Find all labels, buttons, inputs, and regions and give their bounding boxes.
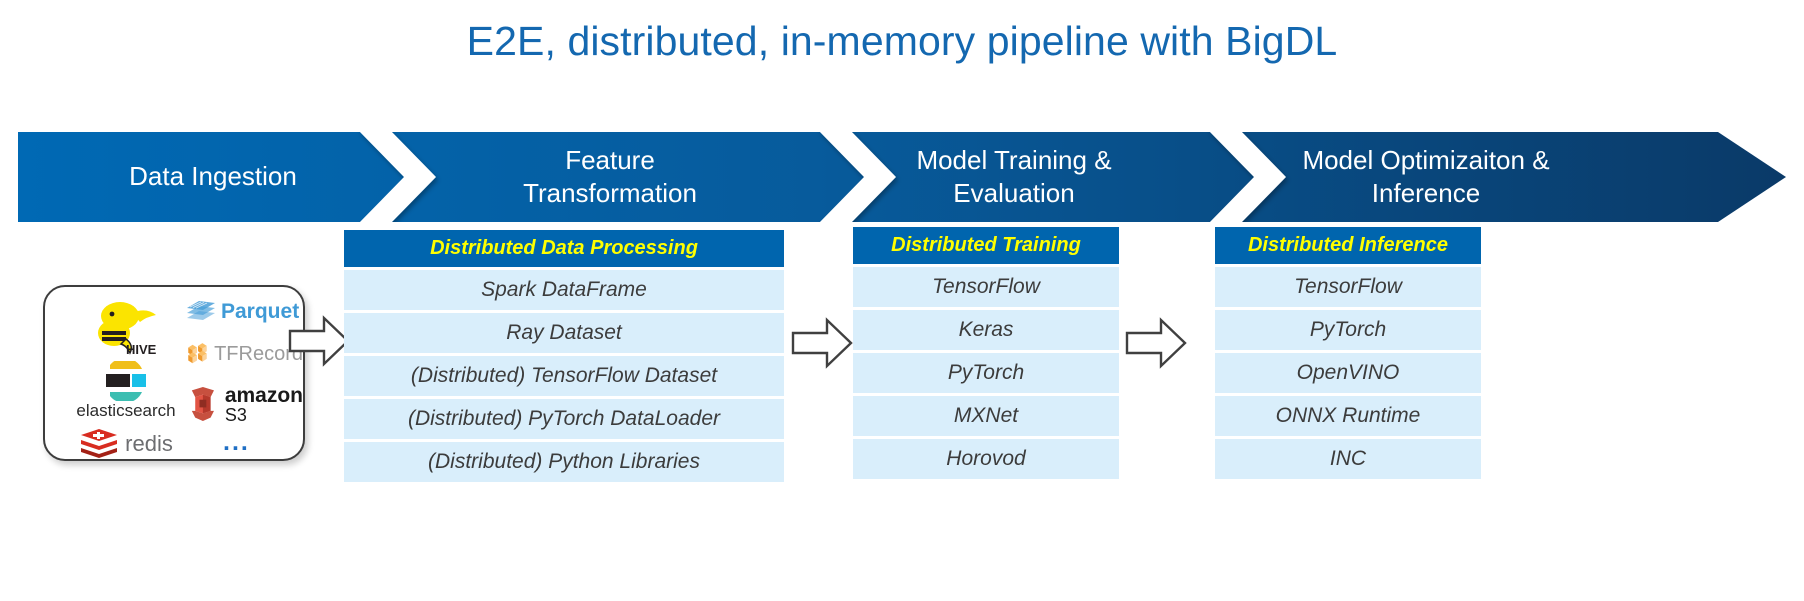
amazon-s3-logo: amazon S3 — [185, 382, 303, 426]
elasticsearch-icon — [104, 361, 148, 401]
table-row[interactable]: PyTorch — [1215, 310, 1481, 350]
table-row[interactable]: Keras — [853, 310, 1119, 350]
table-row[interactable]: TensorFlow — [853, 267, 1119, 307]
redis-icon — [79, 427, 119, 461]
amazon-label: amazon — [225, 385, 303, 406]
data-source-card: HIVE elasticsearch redis — [43, 285, 305, 461]
s3-label: S3 — [225, 406, 303, 424]
table-row[interactable]: Ray Dataset — [344, 313, 784, 353]
parquet-icon — [185, 299, 217, 325]
hive-elephant-icon: HIVE — [90, 299, 162, 357]
source-logo-column-right: Parquet TFReco — [185, 299, 303, 426]
table-row[interactable]: (Distributed) PyTorch DataLoader — [344, 399, 784, 439]
table-row[interactable]: TensorFlow — [1215, 267, 1481, 307]
table-row[interactable]: INC — [1215, 439, 1481, 479]
redis-logo: redis — [67, 427, 185, 461]
redis-label: redis — [125, 431, 173, 457]
tfrecord-cubes-icon — [185, 330, 211, 378]
elasticsearch-label: elasticsearch — [76, 401, 175, 421]
table-row[interactable]: Horovod — [853, 439, 1119, 479]
table-distributed-inference: Distributed Inference TensorFlow PyTorch… — [1215, 227, 1481, 479]
tfrecord-logo: TFRecord — [185, 330, 303, 378]
table-row[interactable]: (Distributed) TensorFlow Dataset — [344, 356, 784, 396]
elasticsearch-logo: elasticsearch — [67, 361, 185, 421]
table-distributed-training: Distributed Training TensorFlow Keras Py… — [853, 227, 1119, 479]
right-arrow-icon — [1125, 312, 1187, 374]
arrow-transform-to-training — [791, 312, 853, 374]
table-row[interactable]: OpenVINO — [1215, 353, 1481, 393]
arrow-training-to-inference — [1125, 312, 1187, 374]
amazon-s3-text: amazon S3 — [225, 385, 303, 424]
table-row[interactable]: PyTorch — [853, 353, 1119, 393]
svg-text:HIVE: HIVE — [126, 342, 157, 357]
pipeline-banner: Data Ingestion Feature Transformation Mo… — [18, 132, 1786, 222]
source-ellipsis: ... — [223, 430, 250, 455]
table-row[interactable]: Spark DataFrame — [344, 270, 784, 310]
banner-graphic — [18, 132, 1786, 222]
parquet-logo: Parquet — [185, 299, 303, 325]
hive-logo: HIVE — [67, 297, 185, 359]
table-header: Distributed Training — [853, 227, 1119, 264]
table-row[interactable]: MXNet — [853, 396, 1119, 436]
arrow-ingestion-to-transform — [288, 310, 350, 372]
amazon-s3-icon — [185, 382, 221, 426]
table-header: Distributed Data Processing — [344, 230, 784, 267]
table-row[interactable]: (Distributed) Python Libraries — [344, 442, 784, 482]
right-arrow-icon — [791, 312, 853, 374]
table-distributed-data-processing: Distributed Data Processing Spark DataFr… — [344, 230, 784, 482]
table-header: Distributed Inference — [1215, 227, 1481, 264]
table-row[interactable]: ONNX Runtime — [1215, 396, 1481, 436]
right-arrow-icon — [288, 310, 350, 372]
source-logo-column-left: HIVE elasticsearch redis — [67, 297, 185, 461]
page-title: E2E, distributed, in-memory pipeline wit… — [0, 18, 1804, 65]
